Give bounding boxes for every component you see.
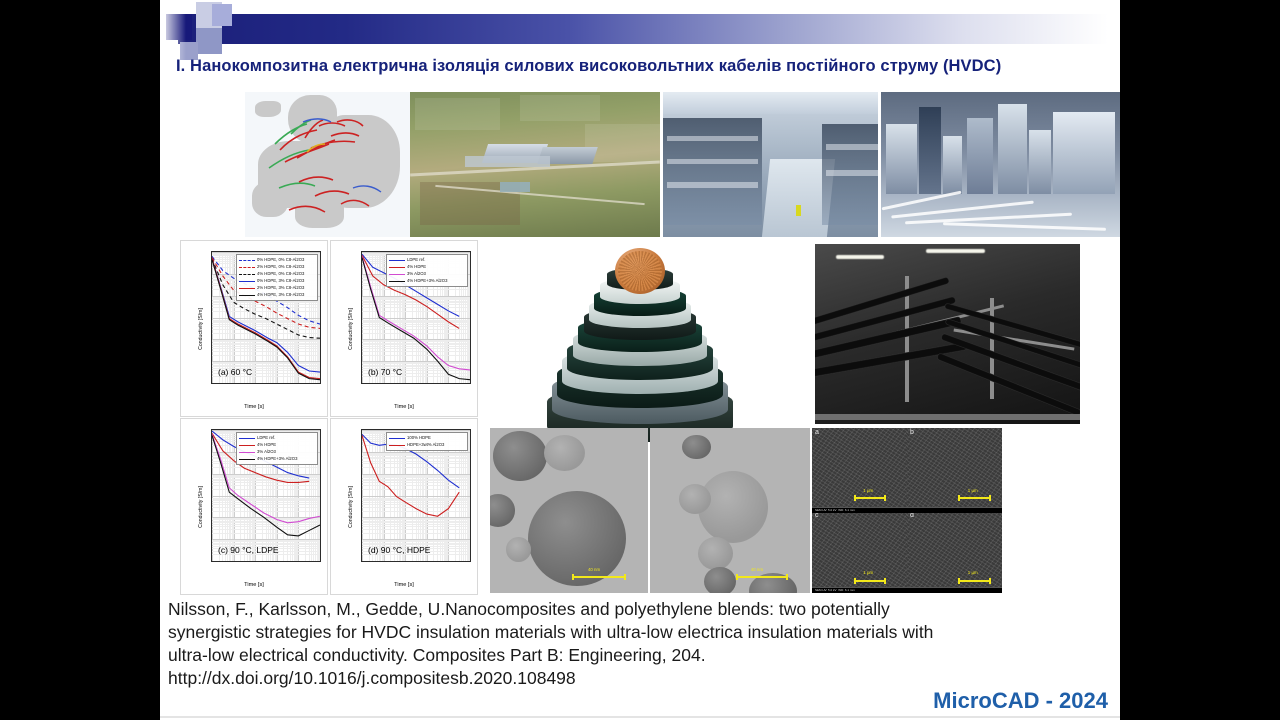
logo-square-mid bbox=[196, 28, 222, 54]
citation-line-3: ultra-low electrical conductivity. Compo… bbox=[168, 644, 1112, 667]
chart-b-y-axis-label: Conductivity [S/m] bbox=[348, 308, 354, 350]
header-gradient-bar bbox=[178, 14, 1108, 44]
chart-d-legend: 100% HDPEHDPE+3wt% Al2O3 bbox=[386, 432, 468, 451]
tem-right-scalebar-label: 40 nm bbox=[751, 567, 763, 572]
chart-b-x-axis-label: Time [s] bbox=[331, 404, 477, 410]
conductivity-charts: 10⁻¹¹10⁻¹²10⁻¹³10⁻¹⁴10⁻¹⁵10⁻¹⁶10⁻¹⁷10⁰10… bbox=[180, 240, 480, 595]
legend-item: 4% HDPE+3% Al2O3 bbox=[389, 278, 465, 285]
legend-swatch bbox=[239, 260, 255, 261]
sem-a-scalebar-label: 1 µm bbox=[863, 488, 873, 493]
gridline-vertical bbox=[320, 430, 321, 561]
sem-d-scalebar-label: 1 µm bbox=[968, 570, 978, 575]
legend-swatch bbox=[239, 288, 255, 289]
legend-swatch bbox=[389, 267, 405, 268]
legend-swatch bbox=[389, 445, 405, 446]
gridline-vertical bbox=[470, 430, 471, 561]
legend-item: 4% HDPE, 3% C8-Al2O3 bbox=[239, 292, 315, 299]
sem-info-strip-top: SEM HV: 5.0 kV WD: 6.1 mm bbox=[812, 507, 1002, 513]
sem-panel-d: d 1 µm bbox=[907, 511, 1002, 590]
legend-item: 4% HDPE+3% Al2O3 bbox=[239, 456, 315, 463]
gridline-horizontal bbox=[362, 383, 470, 384]
valve-hall-scene bbox=[663, 92, 878, 237]
hvdc-cable-cross-section-photo bbox=[500, 240, 780, 440]
legend-item: LDPE ref. bbox=[389, 257, 465, 264]
legend-swatch bbox=[239, 452, 255, 453]
europe-hvdc-map-photo bbox=[245, 92, 410, 237]
gridline-horizontal bbox=[212, 383, 320, 384]
sem-micrograph-grid: a 1 µm b 1 µm c 1 µm d 1 µm SEM HV: 5.0 … bbox=[812, 428, 1002, 593]
legend-item: 4% HDPE bbox=[239, 442, 315, 449]
chart-c-panel-label: (c) 90 °C, LDPE bbox=[218, 545, 279, 555]
legend-item: 4% HDPE bbox=[389, 264, 465, 271]
sem-panel-a: a 1 µm bbox=[812, 428, 907, 507]
photo-strip bbox=[160, 92, 1120, 237]
chart-panel-d: 10⁻¹¹10⁻¹²10⁻¹³10⁻¹⁴10⁻¹⁵10⁻¹⁶10⁻¹⁷10⁰10… bbox=[330, 418, 478, 595]
legend-swatch bbox=[389, 281, 405, 282]
tem-right-scalebar bbox=[736, 576, 787, 578]
chart-c-plot-area: 10⁻¹¹10⁻¹²10⁻¹³10⁻¹⁴10⁻¹⁵10⁻¹⁶10⁻¹⁷10⁰10… bbox=[211, 429, 321, 562]
legend-swatch bbox=[389, 438, 405, 439]
hvdc-link-lines bbox=[245, 92, 410, 237]
chart-c-y-axis-label: Conductivity [S/m] bbox=[198, 486, 204, 528]
legend-label: 4% HDPE+3% Al2O3 bbox=[407, 277, 447, 285]
map-background bbox=[245, 92, 410, 237]
legend-swatch bbox=[239, 459, 255, 460]
chart-b-legend: LDPE ref.4% HDPE3% Al2O34% HDPE+3% Al2O3 bbox=[386, 254, 468, 287]
chart-b-plot-area: 10⁻¹¹10⁻¹²10⁻¹³10⁻¹⁴10⁻¹⁵10⁻¹⁶10⁻¹⁷10⁰10… bbox=[361, 251, 471, 384]
city-scene bbox=[881, 92, 1120, 237]
chart-b-panel-label: (b) 70 °C bbox=[368, 367, 402, 377]
legend-swatch bbox=[239, 281, 255, 282]
footer-logo: MicroCAD - 2024 bbox=[933, 688, 1108, 714]
citation-line-2: synergistic strategies for HVDC insulati… bbox=[168, 621, 1112, 644]
cable-tunnel-photo bbox=[815, 244, 1080, 424]
letterbox-right bbox=[1120, 0, 1280, 720]
legend-item: LDPE ref. bbox=[239, 435, 315, 442]
chart-panel-a: 10⁻¹¹10⁻¹²10⁻¹³10⁻¹⁴10⁻¹⁵10⁻¹⁶10⁻¹⁷10⁰10… bbox=[180, 240, 328, 417]
chart-d-plot-area: 10⁻¹¹10⁻¹²10⁻¹³10⁻¹⁴10⁻¹⁵10⁻¹⁶10⁻¹⁷10⁰10… bbox=[361, 429, 471, 562]
legend-item: HDPE+3wt% Al2O3 bbox=[389, 442, 465, 449]
sem-panel-b-label: b bbox=[910, 429, 914, 436]
valve-hall-interior-photo bbox=[663, 92, 878, 237]
legend-swatch bbox=[239, 295, 255, 296]
legend-swatch bbox=[389, 274, 405, 275]
chart-a-panel-label: (a) 60 °C bbox=[218, 367, 252, 377]
chart-c-legend: LDPE ref.4% HDPE3% Al2O34% HDPE+3% Al2O3 bbox=[236, 432, 318, 465]
sem-panel-c: c 1 µm bbox=[812, 511, 907, 590]
tem-image-right: 40 nm bbox=[650, 428, 810, 593]
tem-micrographs: 40 nm 40 nm bbox=[490, 428, 810, 593]
chart-panel-c: 10⁻¹¹10⁻¹²10⁻¹³10⁻¹⁴10⁻¹⁵10⁻¹⁶10⁻¹⁷10⁰10… bbox=[180, 418, 328, 595]
letterbox-left bbox=[0, 0, 160, 720]
tem-left-scalebar bbox=[572, 576, 626, 578]
legend-swatch bbox=[239, 274, 255, 275]
legend-label: 4% HDPE+3% Al2O3 bbox=[257, 455, 297, 463]
copper-conductor bbox=[615, 248, 665, 294]
chart-c-x-axis-label: Time [s] bbox=[181, 582, 327, 588]
legend-swatch bbox=[239, 438, 255, 439]
page-title: I. Нанокомпозитна електрична ізоляція си… bbox=[176, 56, 1106, 78]
legend-swatch bbox=[239, 445, 255, 446]
tem-left-scalebar-label: 40 nm bbox=[588, 567, 600, 572]
chart-d-x-axis-label: Time [s] bbox=[331, 582, 477, 588]
gridline-horizontal bbox=[212, 561, 320, 562]
night-city-skyline-photo bbox=[881, 92, 1120, 237]
logo-square-top bbox=[212, 4, 232, 26]
chart-d-y-axis-label: Conductivity [S/m] bbox=[348, 486, 354, 528]
legend-swatch bbox=[389, 260, 405, 261]
conductor-strands bbox=[618, 251, 662, 292]
chart-a-plot-area: 10⁻¹¹10⁻¹²10⁻¹³10⁻¹⁴10⁻¹⁵10⁻¹⁶10⁻¹⁷10⁰10… bbox=[211, 251, 321, 384]
sem-b-scalebar-label: 1 µm bbox=[968, 488, 978, 493]
legend-swatch bbox=[239, 267, 255, 268]
citation-line-1: Nilsson, F., Karlsson, M., Gedde, U.Nano… bbox=[168, 598, 1112, 621]
gridline-vertical bbox=[470, 252, 471, 383]
tem-image-left: 40 nm bbox=[490, 428, 648, 593]
chart-a-y-axis-label: Conductivity [S/m] bbox=[198, 308, 204, 350]
footer-rule bbox=[160, 716, 1120, 718]
aerial-terrain bbox=[410, 92, 660, 237]
sem-info-strip-bottom: SEM HV: 5.0 kV WD: 6.1 mm bbox=[812, 587, 1002, 593]
citation-block: Nilsson, F., Karlsson, M., Gedde, U.Nano… bbox=[168, 598, 1112, 690]
gridline-vertical bbox=[320, 252, 321, 383]
gridline-horizontal bbox=[362, 561, 470, 562]
legend-label: 4% HDPE, 3% C8-Al2O3 bbox=[257, 291, 304, 299]
sem-c-scalebar-label: 1 µm bbox=[863, 570, 873, 575]
chart-a-x-axis-label: Time [s] bbox=[181, 404, 327, 410]
presentation-slide: I. Нанокомпозитна електрична ізоляція си… bbox=[160, 0, 1120, 720]
sem-panel-a-label: a bbox=[815, 429, 819, 436]
sem-panel-b: b 1 µm bbox=[907, 428, 1002, 507]
converter-station-aerial-photo bbox=[410, 92, 660, 237]
legend-label: HDPE+3wt% Al2O3 bbox=[407, 441, 444, 449]
citation-doi[interactable]: http://dx.doi.org/10.1016/j.compositesb.… bbox=[168, 667, 1112, 690]
slide-stage: I. Нанокомпозитна електрична ізоляція си… bbox=[0, 0, 1280, 720]
chart-a-legend: 0% HDPE, 0% C8-Al2O32% HDPE, 0% C8-Al2O3… bbox=[236, 254, 318, 301]
chart-d-panel-label: (d) 90 °C, HDPE bbox=[368, 545, 430, 555]
chart-panel-b: 10⁻¹¹10⁻¹²10⁻¹³10⁻¹⁴10⁻¹⁵10⁻¹⁶10⁻¹⁷10⁰10… bbox=[330, 240, 478, 417]
